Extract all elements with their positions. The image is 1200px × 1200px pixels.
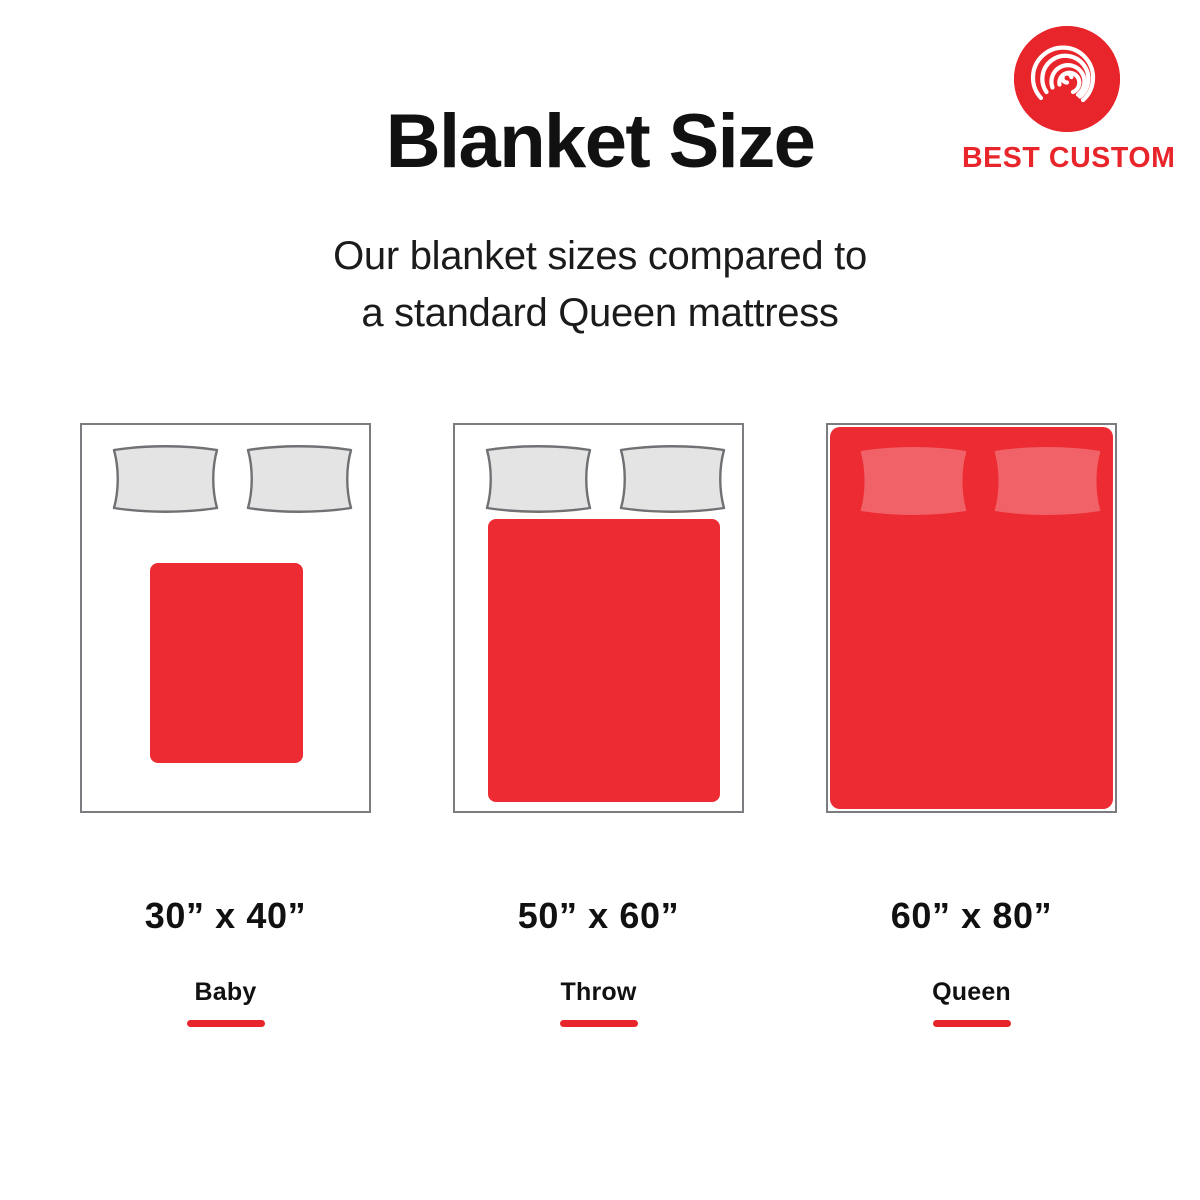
bed-diagram-queen [826, 423, 1117, 813]
size-dimensions: 30” x 40” [80, 898, 371, 934]
bed-diagram-throw [453, 423, 744, 813]
size-name: Queen [826, 980, 1117, 1005]
size-name: Throw [453, 980, 744, 1005]
size-caption-baby: 30” x 40” Baby [80, 898, 371, 1027]
pillow-icon [856, 446, 971, 516]
blanket-shape-baby [150, 563, 303, 763]
size-dimensions: 50” x 60” [453, 898, 744, 934]
subtitle-line-1: Our blanket sizes compared to [0, 228, 1200, 285]
page-subtitle: Our blanket sizes compared to a standard… [0, 228, 1200, 342]
underline-rule [933, 1020, 1011, 1027]
pillow-icon [242, 444, 357, 514]
bed-comparison-row [0, 423, 1200, 815]
underline-rule [560, 1020, 638, 1027]
blanket-shape-queen [830, 427, 1113, 809]
size-captions-row: 30” x 40” Baby 50” x 60” Throw 60” x 80”… [0, 898, 1200, 1058]
bed-diagram-baby [80, 423, 371, 813]
underline-rule [187, 1020, 265, 1027]
pillow-icon [481, 444, 596, 514]
size-caption-throw: 50” x 60” Throw [453, 898, 744, 1027]
page-title: Blanket Size [0, 104, 1200, 180]
size-dimensions: 60” x 80” [826, 898, 1117, 934]
subtitle-line-2: a standard Queen mattress [0, 285, 1200, 342]
blanket-shape-throw [488, 519, 720, 802]
size-caption-queen: 60” x 80” Queen [826, 898, 1117, 1027]
size-name: Baby [80, 980, 371, 1005]
pillow-icon [990, 446, 1105, 516]
pillow-icon [615, 444, 730, 514]
pillow-icon [108, 444, 223, 514]
